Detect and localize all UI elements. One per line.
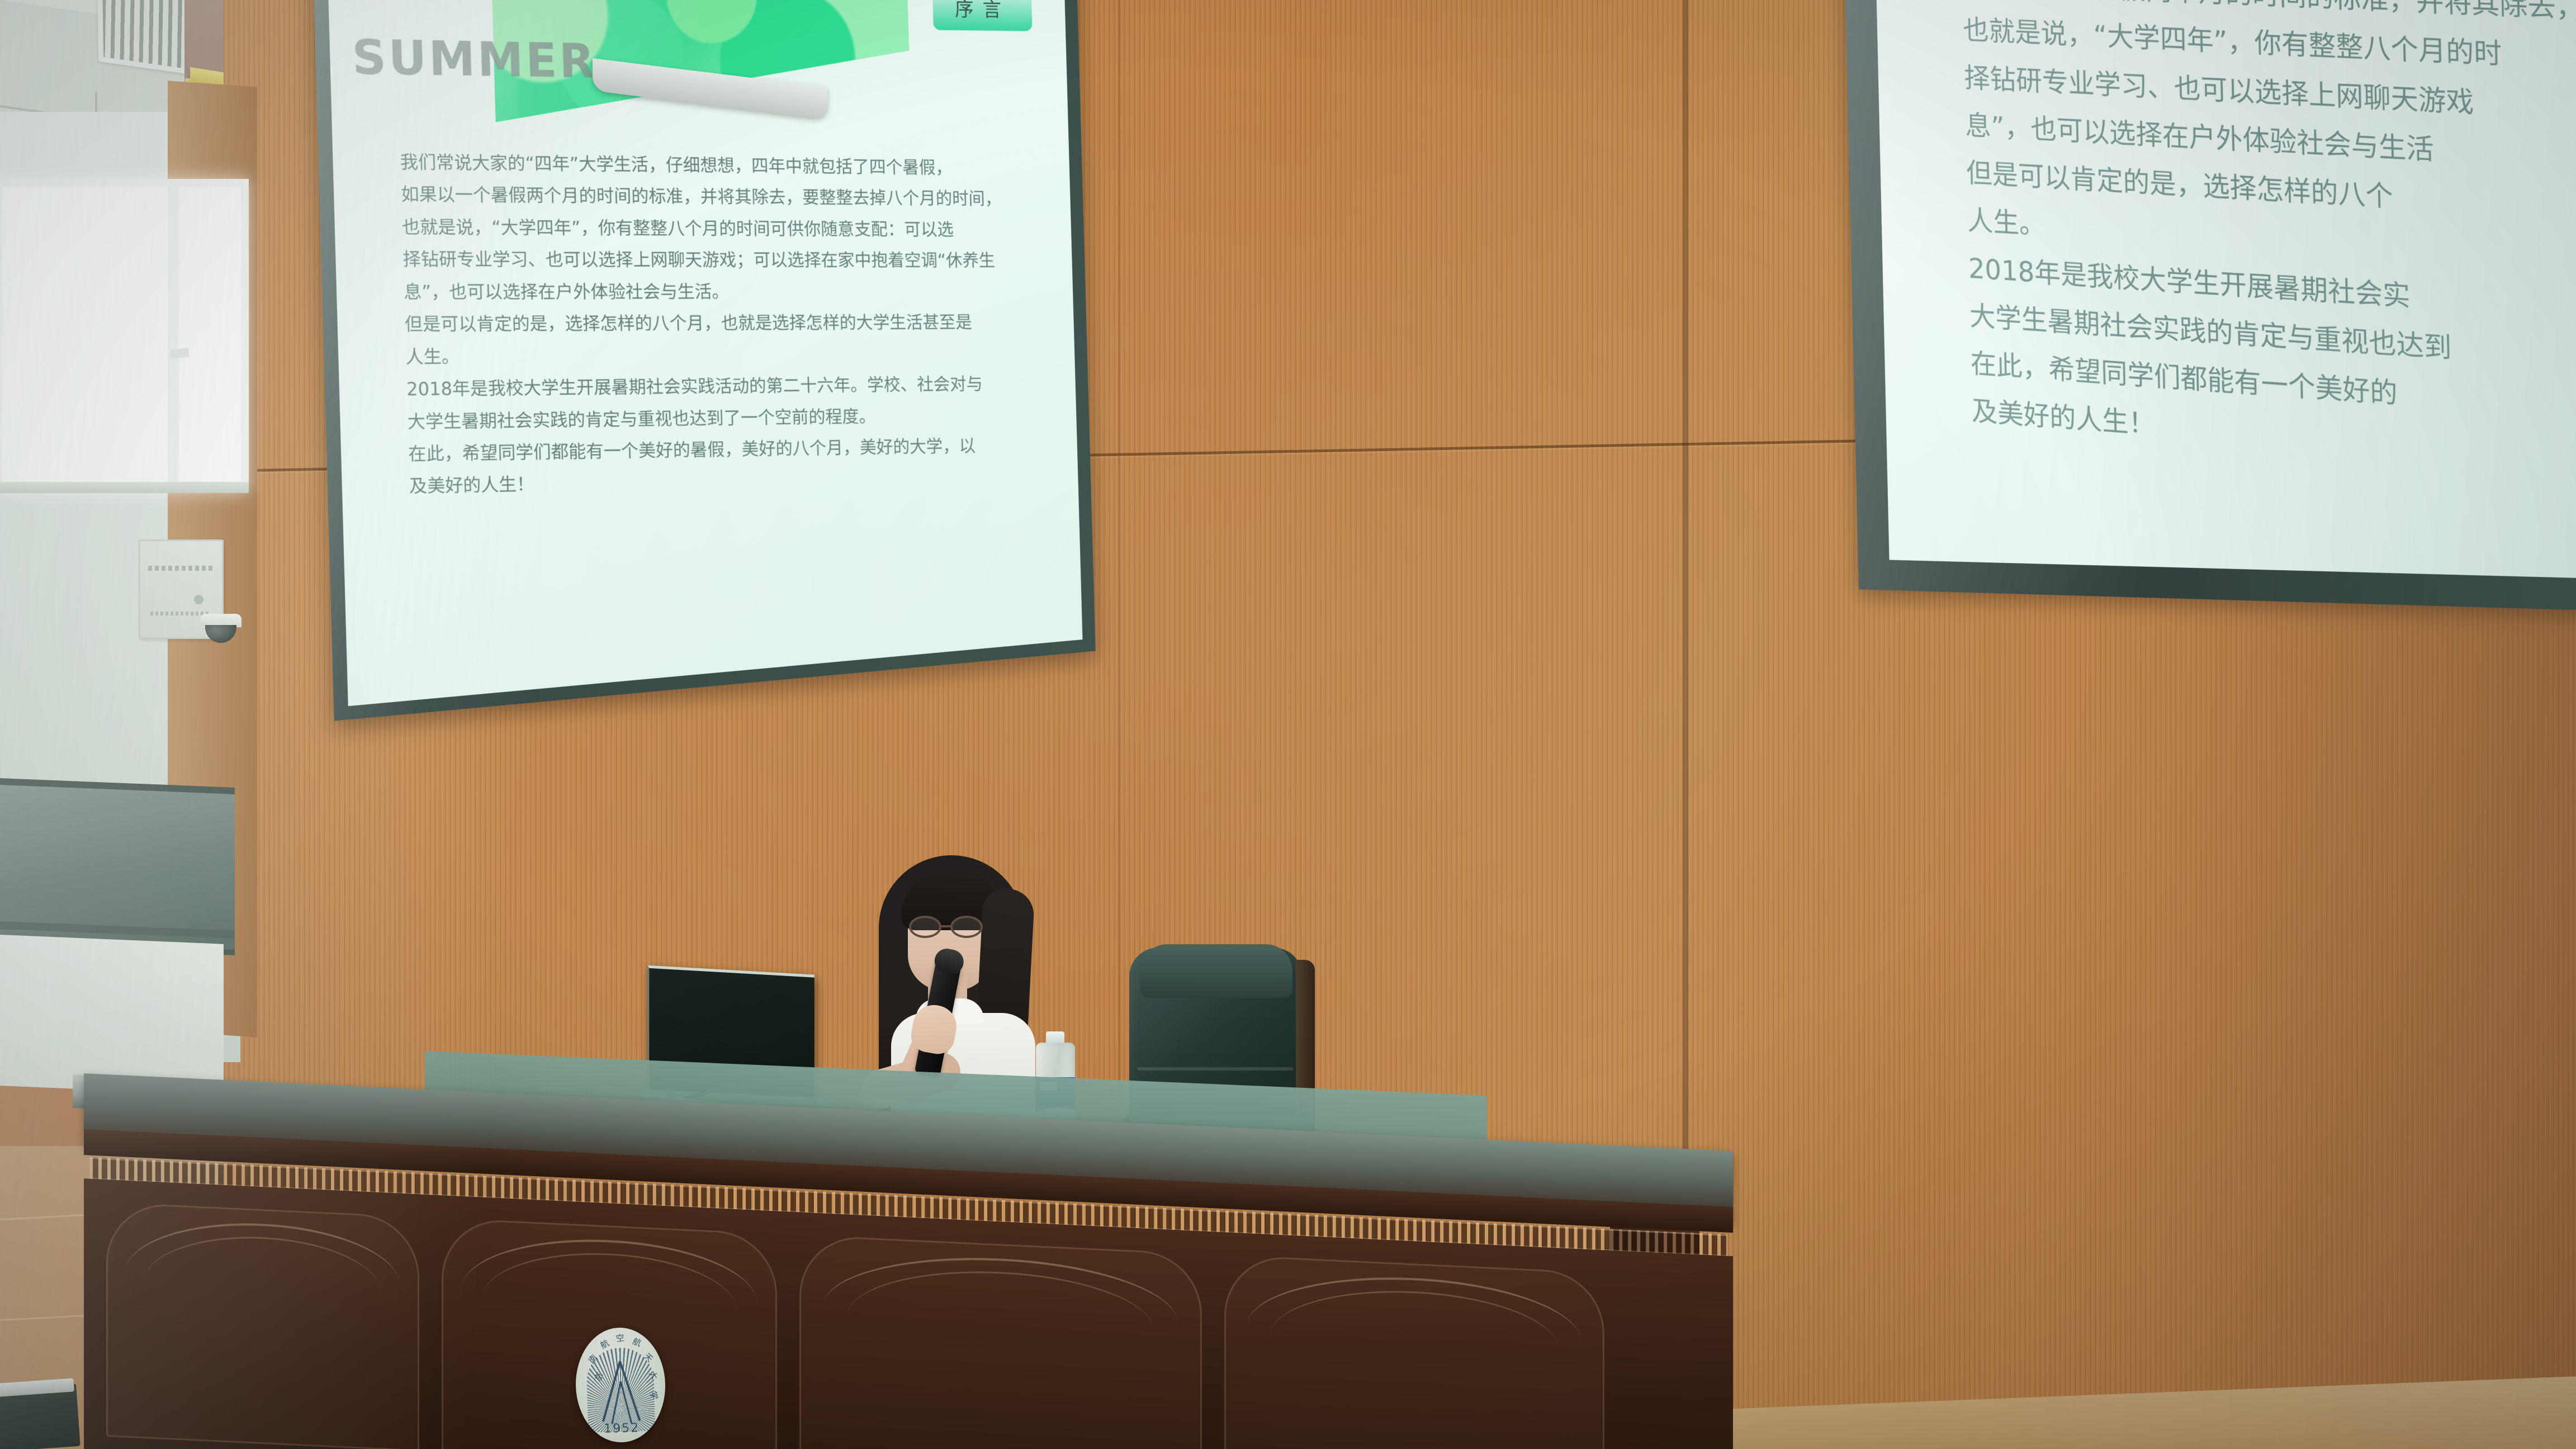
crest-ring-char: 空 (615, 1332, 625, 1344)
screen-canvas: SUMMER 序言 我们常说大家的“四年”大学生活，仔细想想，四年中就包括了四个… (328, 0, 1082, 706)
dome-security-camera (200, 614, 241, 643)
slide-line: 择钻研专业学习、也可以选择上网聊天游戏；可以选择在家中抱着空调“休养生 (366, 244, 1048, 275)
crest-ring-char: 学 (647, 1390, 661, 1400)
slide-section-badge: 序言 (932, 0, 1033, 31)
left-projection-screen: SUMMER 序言 我们常说大家的“四年”大学生活，仔细想想，四年中就包括了四个… (313, 0, 1096, 721)
floor-equipment-case (0, 1384, 80, 1449)
eyeglasses-icon (909, 916, 989, 938)
window-glass (2, 187, 241, 484)
lecture-hall-scene: SUMMER 序言 我们常说大家的“四年”大学生活，仔细想想，四年中就包括了四个… (0, 0, 2576, 1449)
slide-line: 人生。 (369, 339, 1050, 372)
eyeglass-lens-left (909, 916, 941, 938)
bottle-cap (1046, 1031, 1064, 1044)
exterior-window (0, 179, 249, 492)
chair-seam (1137, 1067, 1294, 1071)
slide-body-text: 我们常说大家的“四年”大学生活，仔细想想，四年中就包括了四个暑假， 如果以一个暑… (363, 147, 1054, 505)
utility-box-lock-icon[interactable] (194, 595, 203, 604)
utility-box-label (148, 566, 214, 571)
window-sill (0, 482, 249, 493)
podium-panel (1224, 1254, 1604, 1449)
slide-title: SUMMER (351, 30, 597, 89)
podium-panel (799, 1234, 1202, 1449)
chair-headrest (1140, 944, 1292, 998)
window-mullion (168, 187, 179, 484)
eyeglass-lens-right (950, 916, 983, 938)
slide-line: 2018年是我校大学生开展暑期社会实践活动的第二十六年。学校、社会对与 (370, 370, 1052, 405)
eyeglass-bridge (941, 925, 950, 927)
camera-dome (205, 625, 236, 643)
right-screen-canvas: 我们常说大家的“四年”大学生活，仔细想想，四 如果以一个暑假两个月的时间的标准，… (1875, 0, 2576, 583)
slide-line: 如果以一个暑假两个月的时间的标准，并将其除去，要整整去掉八个月的时间， (364, 179, 1046, 214)
right-projection-screen: 我们常说大家的“四年”大学生活，仔细想想，四 如果以一个暑假两个月的时间的标准，… (1844, 0, 2576, 615)
slide-line: 也就是说，“大学四年”，你有整整八个月的时间可供你随意支配：可以选 (365, 212, 1047, 244)
lower-left-wall (0, 934, 224, 1095)
crest-year: 1952 (577, 1420, 667, 1437)
slide-line: 但是可以肯定的是，选择怎样的八个月，也就是选择怎样的大学生活甚至是 (368, 308, 1049, 340)
slide-line: 息”，也可以选择在户外体验社会与生活。 (367, 277, 1049, 307)
right-slide-body-text: 我们常说大家的“四年”大学生活，仔细想想，四 如果以一个暑假两个月的时间的标准，… (1909, 0, 2576, 495)
crest-ring-char: 航 (631, 1335, 643, 1349)
podium-panel (106, 1202, 419, 1449)
slide-line: 我们常说大家的“四年”大学生活，仔细想想，四年中就包括了四个暑假， (363, 147, 1045, 183)
